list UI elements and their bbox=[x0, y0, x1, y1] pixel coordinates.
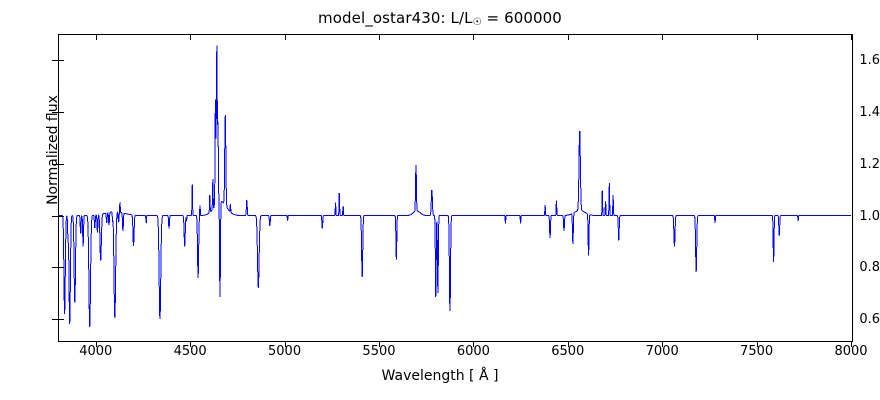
x-tick-mark bbox=[757, 341, 758, 347]
y-tick-label: 1.6 bbox=[836, 54, 880, 67]
x-tick-mark-inner bbox=[285, 35, 286, 40]
x-tick-mark bbox=[285, 341, 286, 347]
y-tick-label: 0.6 bbox=[836, 313, 880, 326]
x-tick-mark-inner bbox=[473, 35, 474, 40]
x-tick-mark bbox=[662, 341, 663, 347]
y-axis-label: Normalized flux bbox=[45, 50, 61, 250]
x-tick-mark bbox=[96, 341, 97, 347]
x-tick-mark-inner bbox=[190, 35, 191, 40]
x-tick-mark-inner bbox=[757, 35, 758, 40]
x-tick-mark bbox=[851, 341, 852, 347]
y-tick-label: 1.4 bbox=[836, 106, 880, 119]
x-tick-label: 8000 bbox=[816, 345, 880, 358]
y-tick-label: 1.0 bbox=[836, 210, 880, 223]
x-tick-mark bbox=[190, 341, 191, 347]
y-tick-label: 0.8 bbox=[836, 261, 880, 274]
y-tick-mark bbox=[52, 267, 58, 268]
x-axis-label: Wavelength [ Å ] bbox=[0, 368, 880, 384]
x-tick-mark-inner bbox=[662, 35, 663, 40]
x-tick-mark bbox=[379, 341, 380, 347]
y-tick-label: 1.2 bbox=[836, 158, 880, 171]
y-tick-mark bbox=[52, 319, 58, 320]
x-tick-mark-inner bbox=[379, 35, 380, 40]
y-tick-mark-inner bbox=[59, 319, 64, 320]
x-tick-mark bbox=[568, 341, 569, 347]
x-tick-mark-inner bbox=[851, 35, 852, 40]
x-tick-mark-inner bbox=[96, 35, 97, 40]
x-tick-mark-inner bbox=[568, 35, 569, 40]
x-tick-mark bbox=[473, 341, 474, 347]
y-tick-mark-inner bbox=[59, 267, 64, 268]
axis-tick-layer: 0.60.81.01.21.41.6 400045005000550060006… bbox=[0, 0, 880, 400]
spectrum-figure: model_ostar430: L/L☉ = 600000 0.60.81.01… bbox=[0, 0, 880, 400]
